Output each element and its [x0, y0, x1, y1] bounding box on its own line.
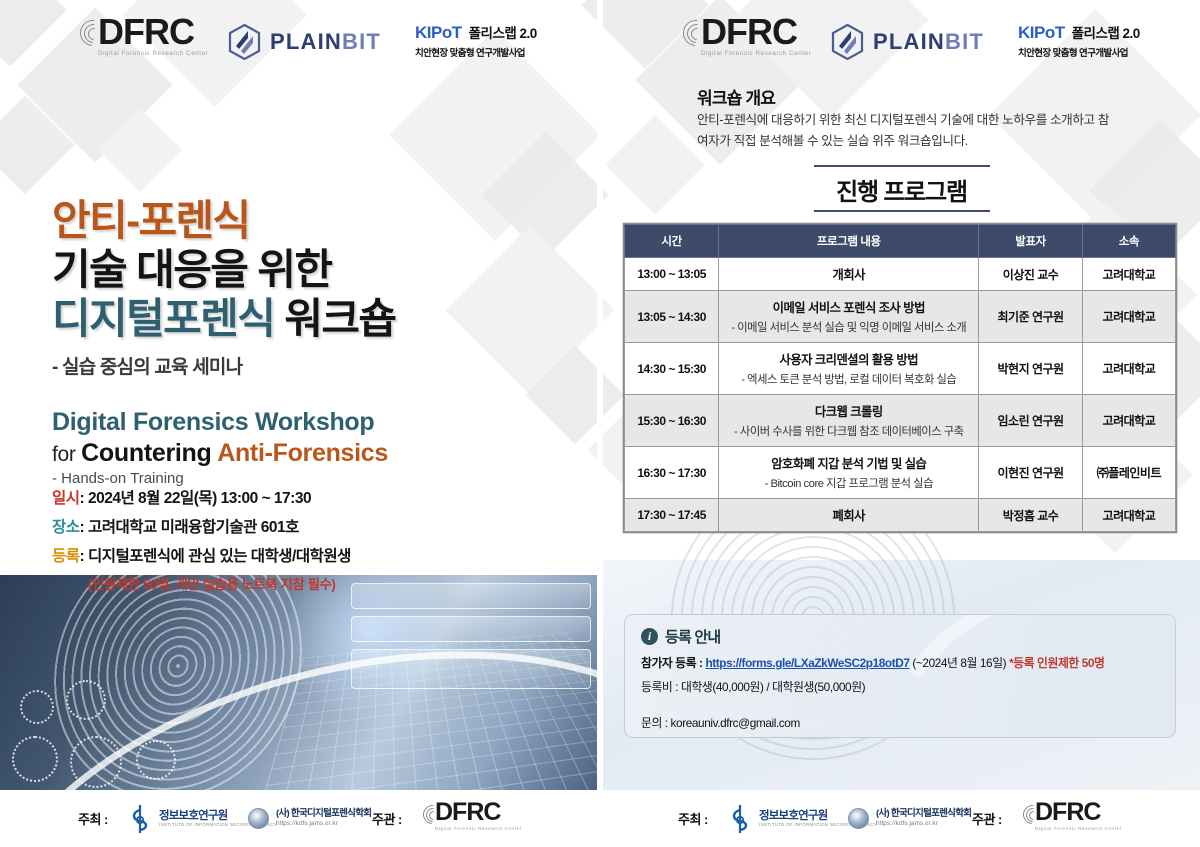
plainbit-logo-text: PLAINBIT: [270, 29, 381, 55]
registration-heading: i 등록 안내: [625, 615, 1175, 647]
kipot-subtitle-right: 치안현장 맞춤형 연구개발사업: [1018, 45, 1140, 59]
dfrc-arc-icon: [78, 15, 104, 57]
plainbit-logo-right: PLAINBIT: [831, 24, 984, 60]
dfrc-logo-text-right: DFRC: [701, 15, 811, 49]
cell-time: 17:30 ~ 17:45: [625, 499, 719, 532]
cell-content-sub: - 엑세스 토큰 분석 방법, 로컬 데이터 복호화 실습: [723, 371, 974, 387]
table-header-row: 시간 프로그램 내용 발표자 소속: [625, 225, 1176, 258]
dfrc-logo: DFRC Digital Forensic Research Center: [78, 15, 208, 57]
english-title-anti-forensics: Anti-Forensics: [217, 439, 388, 467]
cell-org: 고려대학교: [1082, 499, 1175, 532]
event-registration-note: (인원제한 50명, 개인 실습용 노트북 지참 필수): [88, 573, 351, 593]
footer-host-label-left: 주최 :: [78, 809, 108, 828]
cell-time: 13:05 ~ 14:30: [625, 291, 719, 343]
cell-content-main: 암호화폐 지갑 분석 기법 및 실습: [723, 454, 974, 472]
event-registration-value: : 디지털포렌식에 관심 있는 대학생/대학원생: [80, 548, 351, 565]
english-title-line-2: for Countering Anti-Forensics: [52, 438, 395, 469]
cell-org: 고려대학교: [1082, 343, 1175, 395]
kipot-product-text: 폴리스랩 2.0: [469, 22, 537, 42]
event-place-row: 장소: 고려대학교 미래융합기술관 601호: [52, 515, 351, 537]
footer-organizer-label-right: 주관 :: [972, 809, 1002, 828]
title-line-1: 안티-포렌식: [52, 196, 395, 245]
footer-kdfs-logo-left: (사) 한국디지털포렌식학회 https://kdfs.jams.or.kr: [248, 808, 371, 829]
registration-fee-line: 등록비 : 대학생(40,000원) / 대학원생(50,000원): [625, 678, 1175, 695]
table-row: 16:30 ~ 17:30암호화폐 지갑 분석 기법 및 실습- Bitcoin…: [625, 447, 1176, 499]
program-title: 진행 프로그램: [830, 172, 973, 207]
kdfs-url-left: https://kdfs.jams.or.kr: [276, 821, 371, 828]
footer-dfrc-arc-icon-right: [1022, 801, 1041, 831]
panel-divider: [597, 0, 603, 847]
left-panel: DFRC Digital Forensic Research Center: [0, 0, 597, 790]
event-registration-row: 등록: 디지털포렌식에 관심 있는 대학생/대학원생: [52, 544, 351, 566]
cell-time: 16:30 ~ 17:30: [625, 447, 719, 499]
dfrc-logo-right: DFRC Digital Forensic Research Center: [681, 15, 811, 57]
plainbit-logo: PLAINBIT: [228, 24, 381, 60]
plainbit-text-plain-right: PLAIN: [873, 29, 945, 54]
footer-dfrc-logo-left: DFRC Digital Forensic Research Center: [422, 801, 522, 831]
english-title-line-1: Digital Forensics Workshop: [52, 407, 395, 438]
overview-body: 안티-포렌식에 대응하기 위한 최신 디지털포렌식 기술에 대한 노하우를 소개…: [697, 110, 1117, 152]
title-line-3-workshop: 워크숍: [274, 295, 395, 342]
cell-speaker: 박현지 연구원: [979, 343, 1082, 395]
program-table: 시간 프로그램 내용 발표자 소속 13:00 ~ 13:05개회사이상진 교수…: [624, 224, 1176, 532]
plainbit-text-bit-right: BIT: [945, 29, 984, 54]
cell-content-main: 개회사: [723, 265, 974, 283]
program-rule-top: [814, 165, 990, 167]
registration-participant-label: 참가자 등록 :: [641, 656, 705, 670]
footer-kdfs-logo-right: (사) 한국디지털포렌식학회 https://kdfs.jams.or.kr: [848, 808, 971, 829]
kdfs-icon-left: [248, 808, 269, 829]
footer-dfrc-arc-icon-left: [422, 801, 441, 831]
kdfs-name-left: (사) 한국디지털포렌식학회: [276, 809, 371, 819]
table-row: 17:30 ~ 17:45폐회사박정흠 교수고려대학교: [625, 499, 1176, 532]
registration-contact-line: 문의 : koreauniv.dfrc@gmail.com: [625, 714, 1175, 731]
footer-organizer-label-left: 주관 :: [372, 809, 402, 828]
cell-content-sub: - 사이버 수사를 위한 다크웹 참조 데이터베이스 구축: [723, 423, 974, 439]
cell-speaker: 이현진 연구원: [979, 447, 1082, 499]
cell-content-main: 사용자 크리덴셜의 활용 방법: [723, 350, 974, 368]
footer-right: 주최 : 정보보호연구원 INSTITUTE OF INFORMATION SE…: [600, 790, 1200, 847]
kdfs-icon-right: [848, 808, 869, 829]
cell-org: 고려대학교: [1082, 258, 1175, 291]
title-line-2: 기술 대응을 위한: [52, 245, 395, 294]
title-korean-subtitle: - 실습 중심의 교육 세미나: [52, 352, 395, 379]
right-logo-header: DFRC Digital Forensic Research Center: [603, 18, 1200, 70]
table-header-time: 시간: [625, 225, 719, 258]
dfrc-arc-icon-right: [681, 15, 707, 57]
cell-speaker: 최기준 연구원: [979, 291, 1082, 343]
registration-participant-line: 참가자 등록 : https://forms.gle/LXaZkWeSC2p18…: [625, 654, 1175, 671]
registration-limit-note: *등록 인원제한 50명: [1009, 656, 1104, 670]
dfrc-logo-subtitle-right: Digital Forensic Research Center: [701, 50, 811, 57]
cell-speaker: 이상진 교수: [979, 258, 1082, 291]
kipot-brand-text: KIPoT: [415, 23, 462, 43]
forensics-hero-image: [0, 575, 597, 790]
info-icon: i: [641, 628, 658, 645]
english-title-countering: Countering: [81, 439, 217, 467]
overview-title: 워크숍 개요: [697, 84, 775, 109]
kipot-logo: KIPoT 폴리스랩 2.0 치안현장 맞춤형 연구개발사업: [415, 22, 537, 59]
kisa-icon-left: [128, 804, 152, 834]
cell-time: 13:00 ~ 13:05: [625, 258, 719, 291]
cell-content: 개회사: [719, 258, 979, 291]
plainbit-text-plain: PLAIN: [270, 29, 342, 54]
footer-dfrc-subtitle-right: Digital Forensic Research Center: [1035, 826, 1122, 831]
registration-heading-text: 등록 안내: [665, 626, 720, 647]
dfrc-logo-text: DFRC: [98, 15, 208, 49]
event-place-value: : 고려대학교 미래융합기술관 601호: [80, 519, 299, 536]
poster-root: DFRC Digital Forensic Research Center: [0, 0, 1200, 847]
registration-form-link[interactable]: https://forms.gle/LXaZkWeSC2p18otD7: [705, 656, 909, 670]
cell-org: ㈜플레인비트: [1082, 447, 1175, 499]
table-row: 13:00 ~ 13:05개회사이상진 교수고려대학교: [625, 258, 1176, 291]
event-date-value: : 2024년 8월 22일(목) 13:00 ~ 17:30: [80, 490, 312, 507]
title-english-block: Digital Forensics Workshop for Counterin…: [52, 407, 395, 488]
table-row: 14:30 ~ 15:30사용자 크리덴셜의 활용 방법- 엑세스 토큰 분석 …: [625, 343, 1176, 395]
event-registration-label: 등록: [52, 548, 80, 565]
cell-content: 다크웹 크롤링- 사이버 수사를 위한 다크웹 참조 데이터베이스 구축: [719, 395, 979, 447]
dfrc-logo-subtitle: Digital Forensic Research Center: [98, 50, 208, 57]
cell-content: 암호화폐 지갑 분석 기법 및 실습- Bitcoin core 지갑 프로그램…: [719, 447, 979, 499]
table-row: 15:30 ~ 16:30다크웹 크롤링- 사이버 수사를 위한 다크웹 참조 …: [625, 395, 1176, 447]
kipot-subtitle: 치안현장 맞춤형 연구개발사업: [415, 45, 537, 59]
cell-content-main: 다크웹 크롤링: [723, 402, 974, 420]
footer-host-label-right: 주최 :: [678, 809, 708, 828]
kipot-product-text-right: 폴리스랩 2.0: [1072, 22, 1140, 42]
cell-content: 사용자 크리덴셜의 활용 방법- 엑세스 토큰 분석 방법, 로컬 데이터 복호…: [719, 343, 979, 395]
event-date-row: 일시: 2024년 8월 22일(목) 13:00 ~ 17:30: [52, 486, 351, 508]
kipot-brand-text-right: KIPoT: [1018, 23, 1065, 43]
cell-speaker: 임소린 연구원: [979, 395, 1082, 447]
registration-info-box: i 등록 안내 참가자 등록 : https://forms.gle/LXaZk…: [624, 614, 1176, 738]
title-line-3-digital: 디지털포렌식: [52, 295, 274, 342]
cell-content-sub: - 이메일 서비스 분석 실습 및 익명 이메일 서비스 소개: [723, 319, 974, 335]
footer-left: 주최 : 정보보호연구원 INSTITUTE OF INFORMATION SE…: [0, 790, 600, 847]
footer-dfrc-text-left: DFRC: [435, 801, 522, 825]
cell-content-sub: - Bitcoin core 지갑 프로그램 분석 실습: [723, 475, 974, 491]
cell-speaker: 박정흠 교수: [979, 499, 1082, 532]
cell-time: 14:30 ~ 15:30: [625, 343, 719, 395]
cell-org: 고려대학교: [1082, 291, 1175, 343]
footer-dfrc-subtitle-left: Digital Forensic Research Center: [435, 826, 522, 831]
kisa-icon-right: [728, 804, 752, 834]
kdfs-url-right: https://kdfs.jams.or.kr: [876, 821, 971, 828]
plainbit-text-bit: BIT: [342, 29, 381, 54]
left-logo-header: DFRC Digital Forensic Research Center: [0, 18, 597, 70]
cell-content-main: 이메일 서비스 포렌식 조사 방법: [723, 298, 974, 316]
event-place-label: 장소: [52, 519, 80, 536]
cell-time: 15:30 ~ 16:30: [625, 395, 719, 447]
registration-deadline: (~2024년 8월 16일): [910, 656, 1010, 670]
footer-dfrc-logo-right: DFRC Digital Forensic Research Center: [1022, 801, 1122, 831]
table-header-speaker: 발표자: [979, 225, 1082, 258]
kipot-logo-right: KIPoT 폴리스랩 2.0 치안현장 맞춤형 연구개발사업: [1018, 22, 1140, 59]
table-row: 13:05 ~ 14:30이메일 서비스 포렌식 조사 방법- 이메일 서비스 …: [625, 291, 1176, 343]
event-details: 일시: 2024년 8월 22일(목) 13:00 ~ 17:30 장소: 고려…: [52, 486, 351, 593]
plainbit-hexagon-icon: [228, 24, 261, 60]
hero-dashboard-cards: [351, 583, 591, 696]
title-line-3: 디지털포렌식 워크숍: [52, 294, 395, 343]
cell-org: 고려대학교: [1082, 395, 1175, 447]
poster-title-block: 안티-포렌식 기술 대응을 위한 디지털포렌식 워크숍 - 실습 중심의 교육 …: [52, 196, 395, 489]
cell-content-main: 폐회사: [723, 506, 974, 524]
footer-dfrc-text-right: DFRC: [1035, 801, 1122, 825]
kdfs-name-right: (사) 한국디지털포렌식학회: [876, 809, 971, 819]
program-heading-block: 진행 프로그램: [603, 165, 1200, 212]
event-date-label: 일시: [52, 490, 80, 507]
english-title-for: for: [52, 443, 81, 466]
table-header-org: 소속: [1082, 225, 1175, 258]
cell-content: 폐회사: [719, 499, 979, 532]
plainbit-logo-text-right: PLAINBIT: [873, 29, 984, 55]
cell-content: 이메일 서비스 포렌식 조사 방법- 이메일 서비스 분석 실습 및 익명 이메…: [719, 291, 979, 343]
program-rule-bottom: [814, 210, 990, 212]
plainbit-hexagon-icon-right: [831, 24, 864, 60]
table-header-content: 프로그램 내용: [719, 225, 979, 258]
